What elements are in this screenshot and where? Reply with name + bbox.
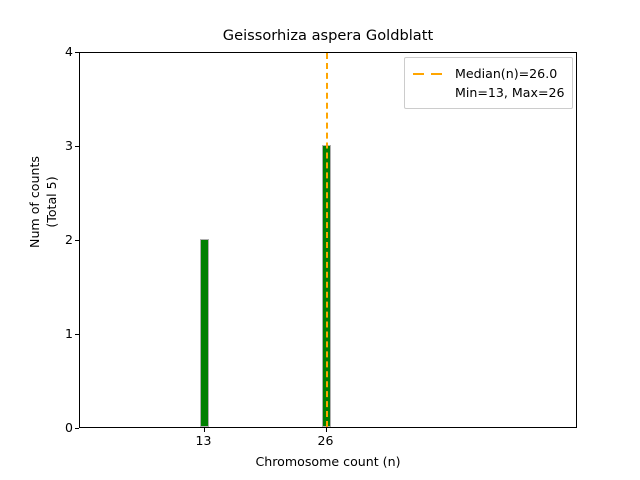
- legend: Median(n)=26.0 Min=13, Max=26: [404, 57, 573, 109]
- plot-inner: [80, 53, 576, 427]
- legend-entry-minmax: Min=13, Max=26: [413, 83, 564, 102]
- y-axis-label: Num of counts (Total 5): [26, 14, 60, 390]
- x-axis-tick-labels: 13 26: [79, 434, 577, 452]
- legend-label-median: Median(n)=26.0: [455, 64, 557, 83]
- legend-label-minmax: Min=13, Max=26: [455, 83, 565, 102]
- matplotlib-figure: Geissorhiza aspera Goldblatt 0 1 2 3 4 N…: [0, 0, 640, 480]
- page-title: Geissorhiza aspera Goldblatt: [79, 27, 577, 44]
- y-tick-label-0: 0: [13, 422, 73, 435]
- legend-entry-median: Median(n)=26.0: [413, 64, 564, 83]
- median-line: [326, 53, 328, 427]
- x-axis-label: Chromosome count (n): [79, 454, 577, 469]
- bar-13[interactable]: [200, 239, 209, 427]
- x-tick-mark-13: [204, 428, 205, 432]
- x-tick-label-26: 26: [296, 434, 356, 448]
- x-tick-mark-26: [326, 428, 327, 432]
- dashed-line-icon: [413, 67, 446, 81]
- x-tick-label-13: 13: [174, 434, 234, 448]
- y-axis-label-line1: Num of counts: [27, 156, 42, 248]
- y-axis-label-line2: (Total 5): [44, 176, 59, 227]
